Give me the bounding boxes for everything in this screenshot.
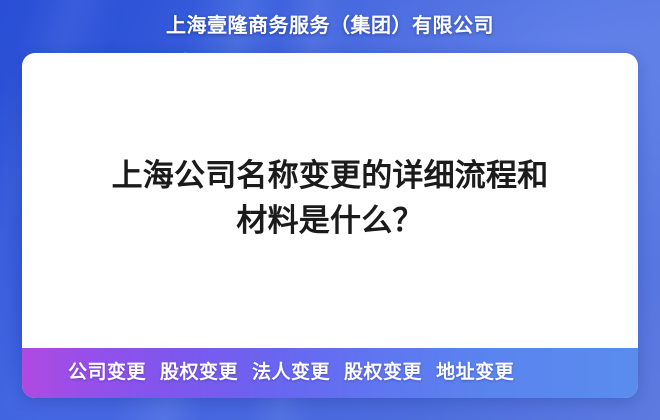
- company-name-header: 上海壹隆商务服务（集团）有限公司: [0, 13, 660, 39]
- tag-item-company-change[interactable]: 公司变更: [68, 361, 146, 385]
- page-title: 上海公司名称变更的详细流程和 材料是什么？: [64, 153, 596, 243]
- content-card: 上海公司名称变更的详细流程和 材料是什么？ 公司变更 股权变更 法人变更 股权变…: [22, 53, 638, 398]
- tag-item-legal-rep-change[interactable]: 法人变更: [252, 361, 330, 385]
- tag-item-equity-change-2[interactable]: 股权变更: [344, 361, 422, 385]
- tag-item-address-change[interactable]: 地址变更: [436, 361, 514, 385]
- tag-bar: 公司变更 股权变更 法人变更 股权变更 地址变更: [22, 348, 638, 398]
- tag-list: 公司变更 股权变更 法人变更 股权变更 地址变更: [68, 361, 514, 385]
- poster-canvas: 上海壹隆商务服务（集团）有限公司 上海公司名称变更的详细流程和 材料是什么？ 公…: [0, 0, 660, 420]
- tag-item-equity-change[interactable]: 股权变更: [160, 361, 238, 385]
- page-title-line-2: 材料是什么？: [64, 198, 596, 243]
- card-body: 上海公司名称变更的详细流程和 材料是什么？: [22, 53, 638, 348]
- page-title-line-1: 上海公司名称变更的详细流程和: [64, 153, 596, 198]
